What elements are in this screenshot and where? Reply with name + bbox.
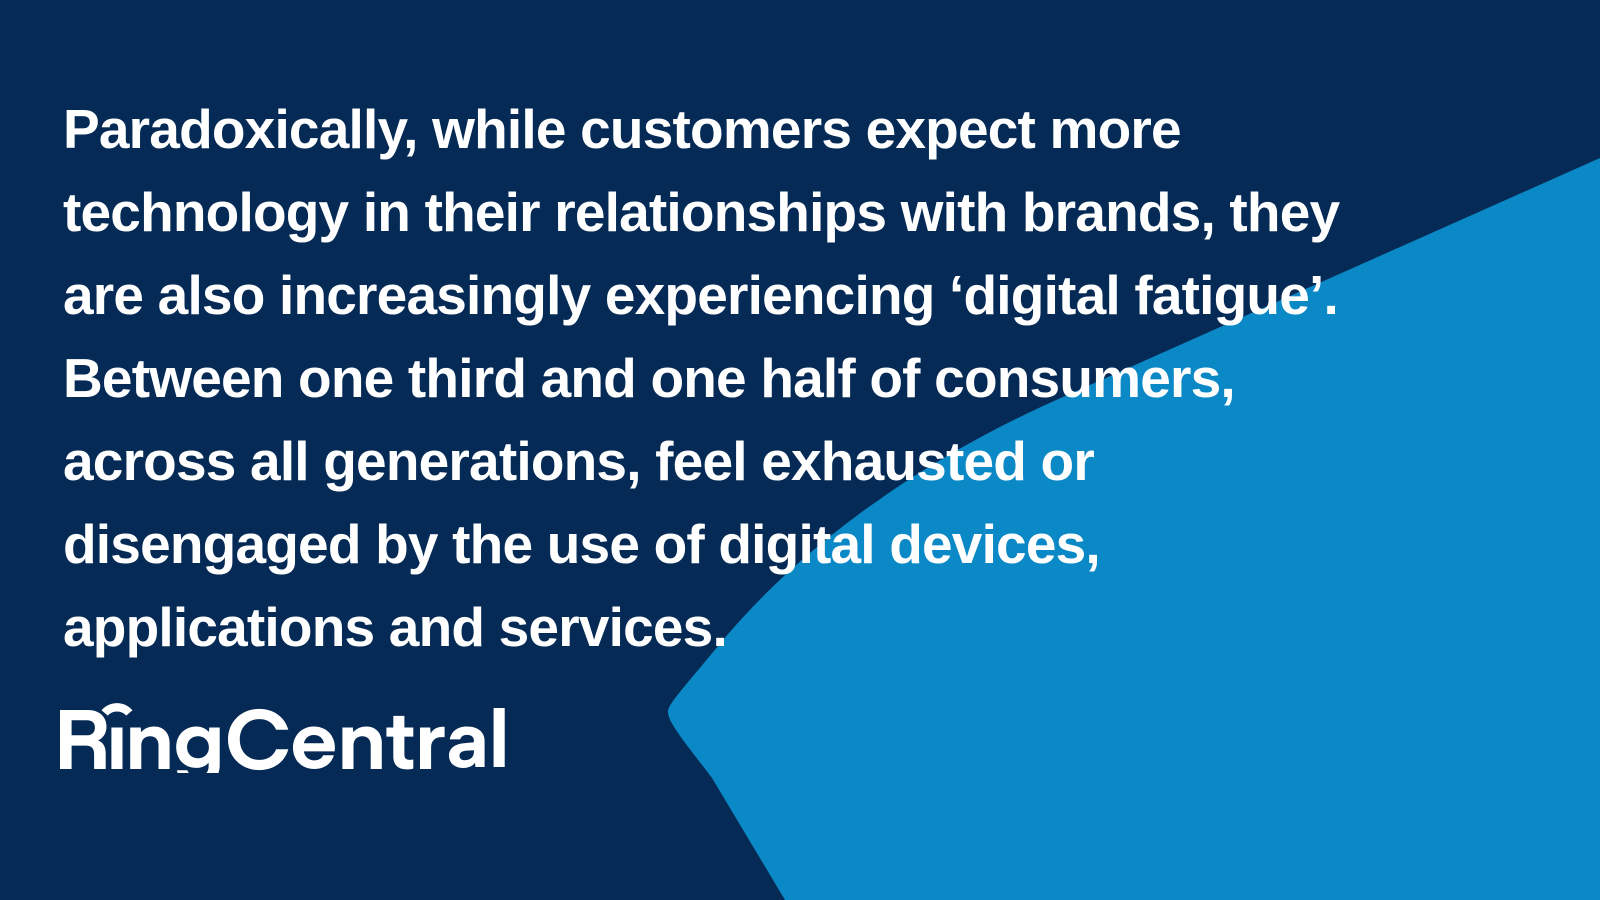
logo-letter-i [111,728,122,770]
ringcentral-logo [60,697,510,773]
quote-line-2: technology in their relationships with b… [63,171,1483,254]
logo-letter-l [494,708,505,767]
quote-line-1: Paradoxically, while customers expect mo… [63,88,1483,171]
logo-letter-e [293,727,335,770]
logo-letter-g [176,727,220,774]
logo-letter-t [386,716,413,770]
logo-letter-r [420,727,445,769]
logo-letter-R [60,710,107,769]
signal-arc-icon [102,703,133,715]
quote-line-5: across all generations, feel exhausted o… [63,420,1483,503]
logo-letter-n2 [342,727,381,770]
logo-letter-C [228,709,288,770]
quote-line-3: are also increasingly experiencing ‘digi… [63,254,1483,337]
ringcentral-logo-tail [448,697,510,773]
quote-line-6: disengaged by the use of digital devices… [63,503,1483,586]
quote-line-4: Between one third and one half of consum… [63,337,1483,420]
quote-text-block: Paradoxically, while customers expect mo… [63,88,1483,669]
ringcentral-logo-svg [60,697,456,773]
quote-line-7: applications and services. [63,586,1483,669]
slide-canvas: Paradoxically, while customers expect mo… [0,0,1600,900]
logo-letter-n [130,727,169,770]
logo-letter-a [449,727,485,769]
